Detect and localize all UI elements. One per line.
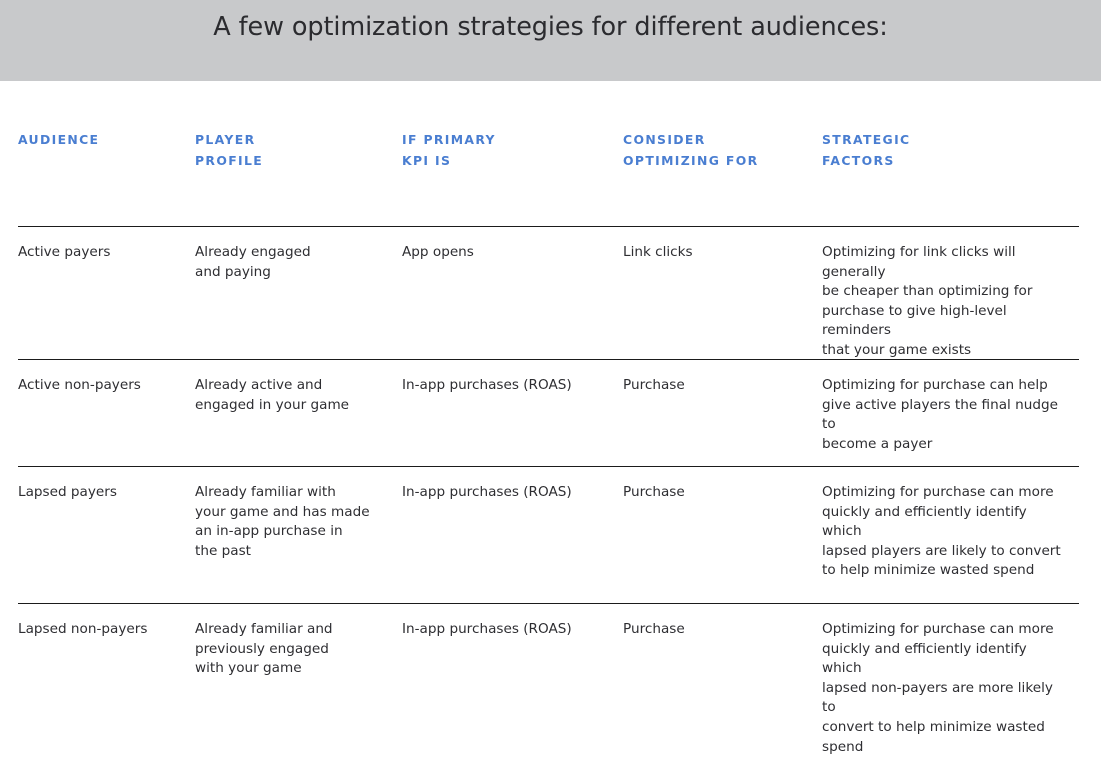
column-header-if-primary-kpi-is: IF PRIMARY KPI IS [402, 130, 623, 171]
cell-optimize-for: Purchase [623, 483, 822, 503]
title-banner: A few optimization strategies for differ… [0, 0, 1101, 81]
column-header-audience: AUDIENCE [18, 130, 195, 151]
cell-optimize-for: Purchase [623, 620, 822, 640]
table-row: Active payers Already engaged and paying… [18, 227, 1079, 359]
table-row: Lapsed non-payers Already familiar and p… [18, 604, 1079, 729]
cell-player-profile: Already familiar and previously engaged … [195, 620, 402, 679]
cell-primary-kpi: App opens [402, 243, 623, 263]
cell-optimize-for: Purchase [623, 376, 822, 396]
cell-player-profile: Already familiar with your game and has … [195, 483, 402, 561]
cell-primary-kpi: In-app purchases (ROAS) [402, 483, 623, 503]
cell-audience: Lapsed payers [18, 483, 195, 503]
cell-strategic-factors: Optimizing for purchase can more quickly… [822, 483, 1079, 581]
cell-optimize-for: Link clicks [623, 243, 822, 263]
table-row: Lapsed payers Already familiar with your… [18, 467, 1079, 603]
cell-audience: Active non-payers [18, 376, 195, 396]
cell-strategic-factors: Optimizing for link clicks will generall… [822, 243, 1079, 361]
strategies-table: AUDIENCE PLAYER PROFILE IF PRIMARY KPI I… [18, 81, 1079, 729]
cell-primary-kpi: In-app purchases (ROAS) [402, 620, 623, 640]
table-header-row: AUDIENCE PLAYER PROFILE IF PRIMARY KPI I… [18, 81, 1079, 226]
cell-primary-kpi: In-app purchases (ROAS) [402, 376, 623, 396]
cell-strategic-factors: Optimizing for purchase can more quickly… [822, 620, 1079, 757]
cell-audience: Lapsed non-payers [18, 620, 195, 640]
cell-strategic-factors: Optimizing for purchase can help give ac… [822, 376, 1079, 454]
cell-player-profile: Already active and engaged in your game [195, 376, 402, 415]
page-title: A few optimization strategies for differ… [0, 12, 1101, 42]
cell-audience: Active payers [18, 243, 195, 263]
cell-player-profile: Already engaged and paying [195, 243, 402, 282]
column-header-player-profile: PLAYER PROFILE [195, 130, 402, 171]
table-row: Active non-payers Already active and eng… [18, 360, 1079, 466]
column-header-consider-optimizing-for: CONSIDER OPTIMIZING FOR [623, 130, 822, 171]
column-header-strategic-factors: STRATEGIC FACTORS [822, 130, 1079, 171]
